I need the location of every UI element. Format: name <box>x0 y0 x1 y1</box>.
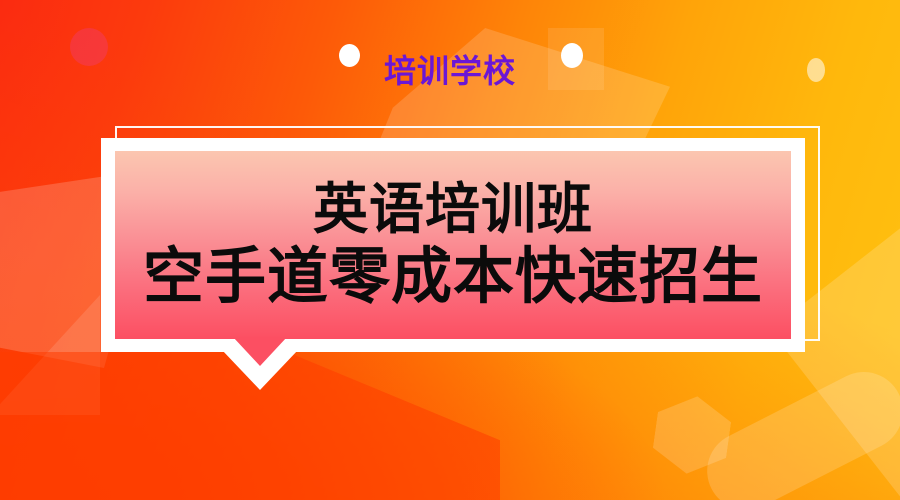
banner-kicker: 培训学校 <box>0 55 900 87</box>
banner-canvas: 培训学校 英语培训班 空手道零成本快速招生 <box>0 0 900 500</box>
headline-bubble-inner: 英语培训班 空手道零成本快速招生 <box>115 151 791 339</box>
headline-bubble: 英语培训班 空手道零成本快速招生 <box>101 138 805 352</box>
headline-line-1: 英语培训班 <box>313 180 593 239</box>
headline-line-2: 空手道零成本快速招生 <box>143 244 763 310</box>
bubble-tail-fill <box>233 337 287 366</box>
